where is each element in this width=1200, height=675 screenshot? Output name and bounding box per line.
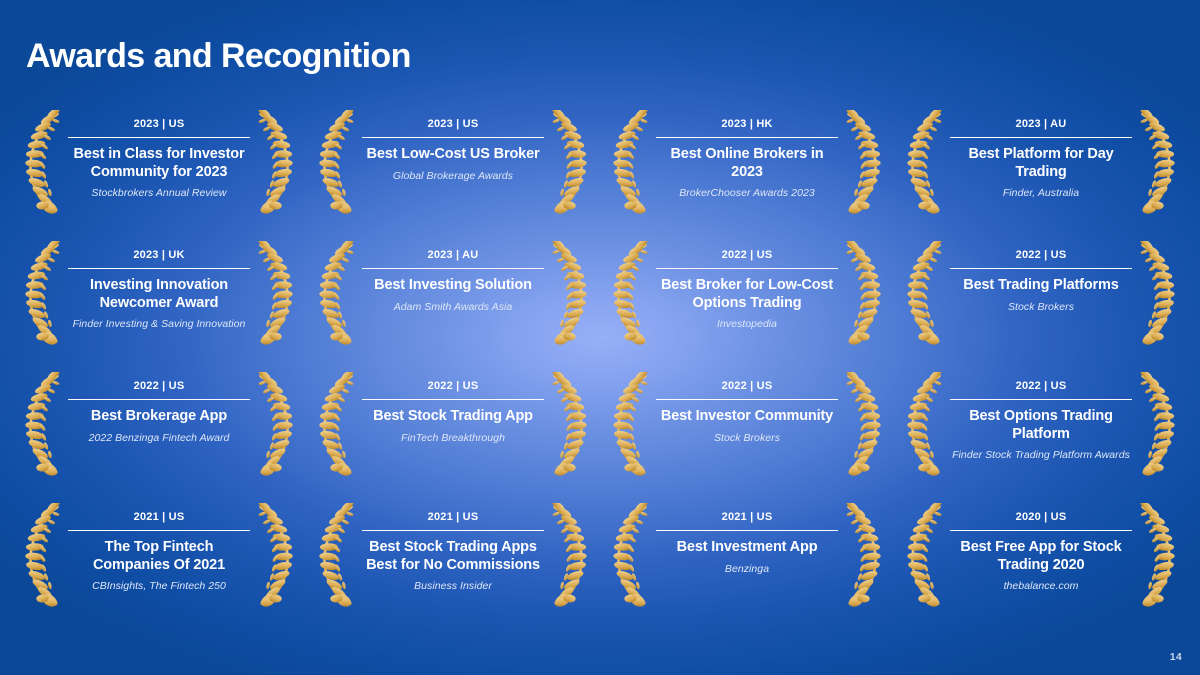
laurel-branch-left-icon bbox=[20, 241, 66, 345]
award-card[interactable]: 2023 | AU Best Platform for Day Trading … bbox=[894, 96, 1188, 227]
award-card[interactable]: 2022 | US Best Broker for Low-Cost Optio… bbox=[600, 227, 894, 358]
award-divider bbox=[68, 268, 250, 269]
award-title: Best Low-Cost US Broker bbox=[362, 146, 544, 164]
laurel-branch-right-icon bbox=[1134, 503, 1180, 607]
award-card-body: 2022 | US Best Broker for Low-Cost Optio… bbox=[654, 241, 840, 331]
award-card[interactable]: 2022 | US Best Investor Community Stock … bbox=[600, 358, 894, 489]
award-source: Global Brokerage Awards bbox=[362, 170, 544, 183]
award-title: Best Platform for Day Trading bbox=[950, 146, 1132, 181]
award-year-region: 2022 | US bbox=[656, 241, 838, 268]
award-title: Best Stock Trading App bbox=[362, 408, 544, 426]
award-card[interactable]: 2022 | US Best Brokerage App 2022 Benzin… bbox=[12, 358, 306, 489]
award-year-region: 2022 | US bbox=[362, 372, 544, 399]
laurel-branch-left-icon bbox=[902, 503, 948, 607]
award-card[interactable]: 2023 | UK Investing Innovation Newcomer … bbox=[12, 227, 306, 358]
award-source: thebalance.com bbox=[950, 580, 1132, 593]
award-card[interactable]: 2022 | US Best Stock Trading App FinTech… bbox=[306, 358, 600, 489]
award-divider bbox=[656, 268, 838, 269]
laurel-branch-right-icon bbox=[840, 241, 886, 345]
laurel-branch-left-icon bbox=[314, 110, 360, 214]
award-source: Stockbrokers Annual Review bbox=[68, 187, 250, 200]
award-divider bbox=[950, 268, 1132, 269]
award-source: Benzinga bbox=[656, 563, 838, 576]
laurel-branch-left-icon bbox=[608, 110, 654, 214]
award-year-region: 2022 | US bbox=[950, 372, 1132, 399]
award-year-region: 2023 | UK bbox=[68, 241, 250, 268]
award-source: Finder, Australia bbox=[950, 187, 1132, 200]
laurel-branch-right-icon bbox=[546, 241, 592, 345]
award-source: Finder Stock Trading Platform Awards bbox=[950, 449, 1132, 462]
award-year-region: 2023 | AU bbox=[362, 241, 544, 268]
laurel-branch-right-icon bbox=[546, 110, 592, 214]
laurel-branch-right-icon bbox=[840, 110, 886, 214]
award-year-region: 2023 | HK bbox=[656, 110, 838, 137]
award-year-region: 2021 | US bbox=[68, 503, 250, 530]
laurel-branch-right-icon bbox=[1134, 372, 1180, 476]
laurel-branch-left-icon bbox=[902, 110, 948, 214]
award-card-body: 2023 | US Best Low-Cost US Broker Global… bbox=[360, 110, 546, 183]
award-year-region: 2023 | US bbox=[362, 110, 544, 137]
award-year-region: 2023 | US bbox=[68, 110, 250, 137]
award-year-region: 2021 | US bbox=[656, 503, 838, 530]
award-card-body: 2021 | US Best Stock Trading Apps Best f… bbox=[360, 503, 546, 593]
award-card-body: 2023 | HK Best Online Brokers in 2023 Br… bbox=[654, 110, 840, 200]
award-title: Investing Innovation Newcomer Award bbox=[68, 277, 250, 312]
laurel-branch-left-icon bbox=[20, 110, 66, 214]
page-number: 14 bbox=[1170, 651, 1182, 663]
award-source: Adam Smith Awards Asia bbox=[362, 301, 544, 314]
award-title: Best Broker for Low-Cost Options Trading bbox=[656, 277, 838, 312]
award-card-body: 2023 | AU Best Investing Solution Adam S… bbox=[360, 241, 546, 314]
laurel-branch-right-icon bbox=[546, 503, 592, 607]
award-source: Stock Brokers bbox=[950, 301, 1132, 314]
laurel-branch-right-icon bbox=[840, 372, 886, 476]
award-divider bbox=[68, 137, 250, 138]
laurel-branch-right-icon bbox=[252, 110, 298, 214]
award-card-body: 2023 | AU Best Platform for Day Trading … bbox=[948, 110, 1134, 200]
award-source: BrokerChooser Awards 2023 bbox=[656, 187, 838, 200]
laurel-branch-right-icon bbox=[840, 503, 886, 607]
award-title: Best in Class for Investor Community for… bbox=[68, 146, 250, 181]
award-card[interactable]: 2021 | US Best Investment App Benzinga bbox=[600, 489, 894, 620]
award-card[interactable]: 2022 | US Best Trading Platforms Stock B… bbox=[894, 227, 1188, 358]
laurel-branch-left-icon bbox=[20, 372, 66, 476]
award-year-region: 2022 | US bbox=[68, 372, 250, 399]
award-year-region: 2020 | US bbox=[950, 503, 1132, 530]
award-card-body: 2022 | US Best Trading Platforms Stock B… bbox=[948, 241, 1134, 314]
awards-grid: 2023 | US Best in Class for Investor Com… bbox=[12, 96, 1188, 620]
award-source: 2022 Benzinga Fintech Award bbox=[68, 432, 250, 445]
laurel-branch-left-icon bbox=[608, 241, 654, 345]
award-source: Finder Investing & Saving Innovation bbox=[68, 318, 250, 331]
award-year-region: 2022 | US bbox=[950, 241, 1132, 268]
award-divider bbox=[656, 137, 838, 138]
award-divider bbox=[362, 268, 544, 269]
award-divider bbox=[950, 137, 1132, 138]
award-card[interactable]: 2022 | US Best Options Trading Platform … bbox=[894, 358, 1188, 489]
award-divider bbox=[656, 399, 838, 400]
award-card-body: 2021 | US The Top Fintech Companies Of 2… bbox=[66, 503, 252, 593]
award-source: Investopedia bbox=[656, 318, 838, 331]
award-card[interactable]: 2021 | US The Top Fintech Companies Of 2… bbox=[12, 489, 306, 620]
award-source: Stock Brokers bbox=[656, 432, 838, 445]
award-divider bbox=[68, 399, 250, 400]
award-title: Best Stock Trading Apps Best for No Comm… bbox=[362, 539, 544, 574]
award-divider bbox=[656, 530, 838, 531]
award-card[interactable]: 2023 | US Best Low-Cost US Broker Global… bbox=[306, 96, 600, 227]
laurel-branch-right-icon bbox=[252, 372, 298, 476]
award-title: Best Investor Community bbox=[656, 408, 838, 426]
laurel-branch-right-icon bbox=[252, 241, 298, 345]
award-title: Best Investment App bbox=[656, 539, 838, 557]
award-card[interactable]: 2023 | US Best in Class for Investor Com… bbox=[12, 96, 306, 227]
award-card[interactable]: 2021 | US Best Stock Trading Apps Best f… bbox=[306, 489, 600, 620]
laurel-branch-left-icon bbox=[314, 241, 360, 345]
award-year-region: 2021 | US bbox=[362, 503, 544, 530]
laurel-branch-left-icon bbox=[20, 503, 66, 607]
award-title: Best Brokerage App bbox=[68, 408, 250, 426]
award-card[interactable]: 2020 | US Best Free App for Stock Tradin… bbox=[894, 489, 1188, 620]
award-card-body: 2023 | UK Investing Innovation Newcomer … bbox=[66, 241, 252, 331]
award-divider bbox=[362, 530, 544, 531]
laurel-branch-left-icon bbox=[902, 372, 948, 476]
award-divider bbox=[950, 399, 1132, 400]
award-divider bbox=[362, 399, 544, 400]
award-year-region: 2022 | US bbox=[656, 372, 838, 399]
award-title: The Top Fintech Companies Of 2021 bbox=[68, 539, 250, 574]
award-card-body: 2022 | US Best Brokerage App 2022 Benzin… bbox=[66, 372, 252, 445]
award-card-body: 2020 | US Best Free App for Stock Tradin… bbox=[948, 503, 1134, 593]
award-card[interactable]: 2023 | HK Best Online Brokers in 2023 Br… bbox=[600, 96, 894, 227]
award-card-body: 2022 | US Best Investor Community Stock … bbox=[654, 372, 840, 445]
laurel-branch-left-icon bbox=[902, 241, 948, 345]
page-title: Awards and Recognition bbox=[26, 35, 411, 78]
laurel-branch-right-icon bbox=[252, 503, 298, 607]
award-card-body: 2022 | US Best Stock Trading App FinTech… bbox=[360, 372, 546, 445]
award-divider bbox=[950, 530, 1132, 531]
laurel-branch-left-icon bbox=[314, 372, 360, 476]
award-title: Best Free App for Stock Trading 2020 bbox=[950, 539, 1132, 574]
award-card-body: 2021 | US Best Investment App Benzinga bbox=[654, 503, 840, 576]
slide-awards-and-recognition: Awards and Recognition 2023 | US Best in… bbox=[0, 0, 1200, 675]
award-divider bbox=[362, 137, 544, 138]
award-title: Best Investing Solution bbox=[362, 277, 544, 295]
award-title: Best Online Brokers in 2023 bbox=[656, 146, 838, 181]
award-divider bbox=[68, 530, 250, 531]
award-card-body: 2023 | US Best in Class for Investor Com… bbox=[66, 110, 252, 200]
laurel-branch-left-icon bbox=[314, 503, 360, 607]
laurel-branch-left-icon bbox=[608, 503, 654, 607]
award-title: Best Trading Platforms bbox=[950, 277, 1132, 295]
laurel-branch-right-icon bbox=[1134, 110, 1180, 214]
award-card[interactable]: 2023 | AU Best Investing Solution Adam S… bbox=[306, 227, 600, 358]
laurel-branch-right-icon bbox=[1134, 241, 1180, 345]
award-year-region: 2023 | AU bbox=[950, 110, 1132, 137]
award-title: Best Options Trading Platform bbox=[950, 408, 1132, 443]
award-source: CBInsights, The Fintech 250 bbox=[68, 580, 250, 593]
laurel-branch-left-icon bbox=[608, 372, 654, 476]
award-source: FinTech Breakthrough bbox=[362, 432, 544, 445]
award-card-body: 2022 | US Best Options Trading Platform … bbox=[948, 372, 1134, 462]
award-source: Business Insider bbox=[362, 580, 544, 593]
laurel-branch-right-icon bbox=[546, 372, 592, 476]
